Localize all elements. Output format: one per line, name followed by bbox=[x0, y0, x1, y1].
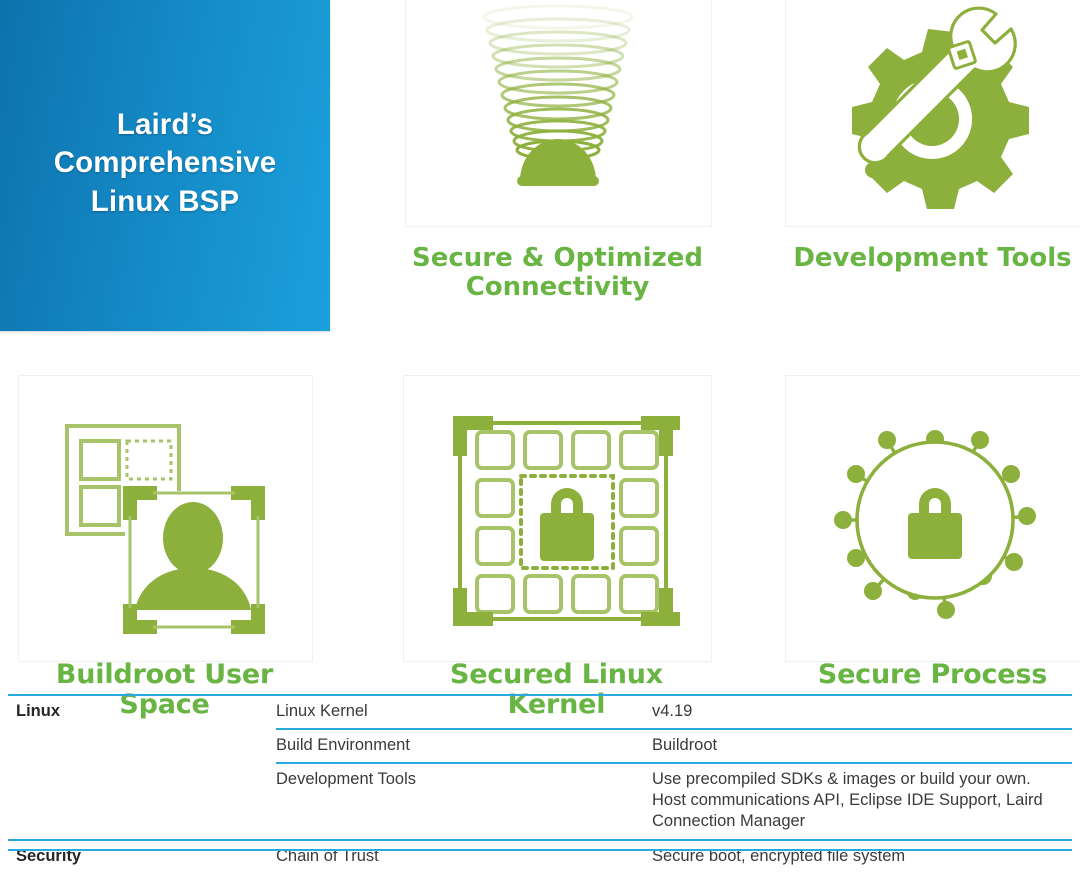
signal-funnel-icon bbox=[443, 4, 673, 204]
slide-canvas: Laird’s Comprehensive Linux BSP bbox=[0, 0, 1080, 852]
caption-connectivity-line-1: Secure & Optimized bbox=[405, 244, 710, 273]
network-padlock-icon bbox=[825, 415, 1045, 635]
caption-secure-process: Secure Process bbox=[785, 660, 1080, 690]
table-row: Linux Linux Kernel v4.19 bbox=[8, 695, 1072, 729]
window-user-frame-icon bbox=[45, 408, 295, 638]
table-cell-item-value: Secure boot, encrypted file system bbox=[652, 840, 1072, 873]
hero-title-line-3: Linux BSP bbox=[54, 183, 277, 221]
caption-connectivity-line-2: Connectivity bbox=[405, 273, 710, 302]
table-bottom-rule bbox=[8, 849, 1072, 851]
table-cell-item-name: Development Tools bbox=[276, 763, 652, 839]
table-cell-item-name: Chain of Trust bbox=[276, 840, 652, 873]
table-cell-item-name: Linux Kernel bbox=[276, 695, 652, 729]
table-row: Security Chain of Trust Secure boot, enc… bbox=[8, 840, 1072, 873]
table-cell-item-value: Buildroot bbox=[652, 729, 1072, 763]
table-cell-category: Security bbox=[8, 840, 276, 873]
caption-dev-tools: Development Tools bbox=[785, 244, 1080, 273]
hero-title-line-1: Laird’s bbox=[54, 106, 277, 144]
caption-connectivity: Secure & Optimized Connectivity bbox=[405, 244, 710, 302]
table-cell-item-name: Build Environment bbox=[276, 729, 652, 763]
hero-title: Laird’s Comprehensive Linux BSP bbox=[54, 106, 277, 225]
spec-table: Linux Linux Kernel v4.19 Build Environme… bbox=[8, 694, 1072, 873]
grid-padlock-icon bbox=[445, 408, 680, 638]
hero-title-line-2: Comprehensive bbox=[54, 144, 277, 182]
table-cell-item-value: Use precompiled SDKs & images or build y… bbox=[652, 763, 1072, 839]
table-cell-category: Linux bbox=[8, 695, 276, 840]
table-cell-item-value: v4.19 bbox=[652, 695, 1072, 729]
gear-wrench-icon bbox=[820, 4, 1045, 209]
hero-tile: Laird’s Comprehensive Linux BSP bbox=[0, 0, 330, 331]
